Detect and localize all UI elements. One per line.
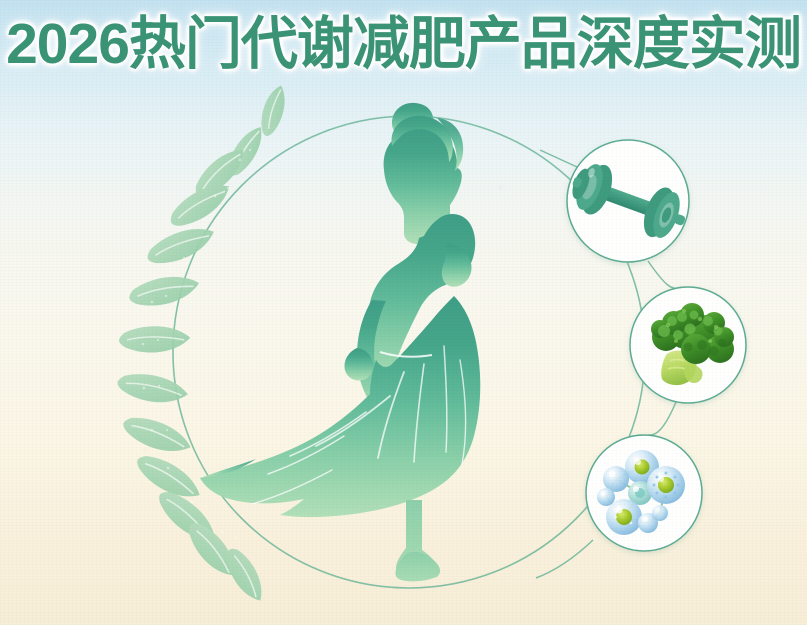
poster-artwork: [0, 0, 807, 625]
icon-circle-broccoli[interactable]: [630, 287, 746, 403]
poster-canvas: 2026热门代谢减肥产品深度实测: [0, 0, 807, 625]
icon-circle-molecule[interactable]: [586, 435, 702, 551]
page-title: 2026热门代谢减肥产品深度实测: [0, 13, 807, 77]
icon-circle-dumbbell[interactable]: [565, 140, 694, 262]
woman-silhouette: [200, 103, 480, 581]
laurel-leaf-wreath: [115, 83, 290, 607]
